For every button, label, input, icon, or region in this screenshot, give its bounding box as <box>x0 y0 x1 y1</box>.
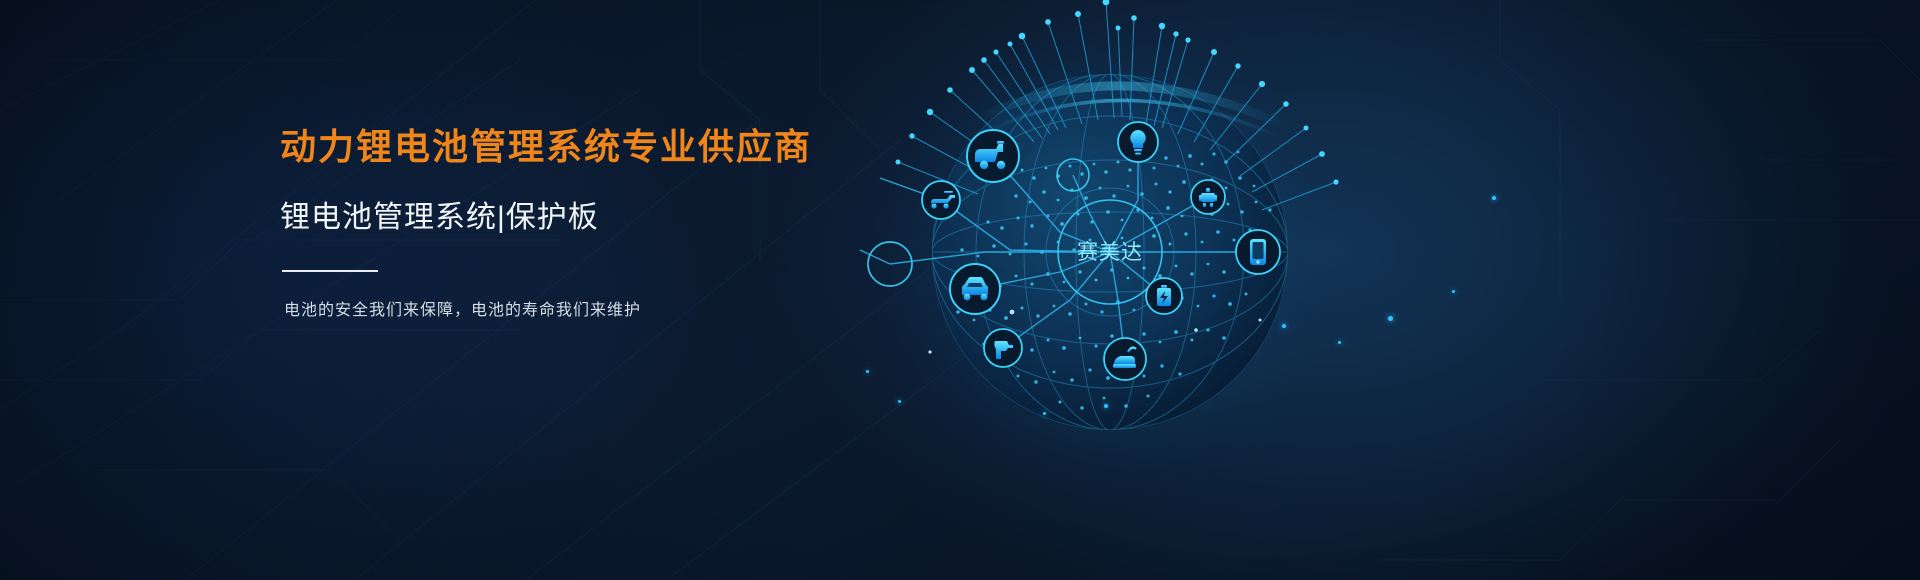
node-drone <box>922 181 960 219</box>
node-vacuum <box>1104 338 1146 380</box>
spark-dot <box>1492 196 1496 200</box>
spark-dot <box>1282 324 1286 328</box>
spark-dot <box>1388 316 1393 321</box>
spark-dot <box>1104 404 1108 408</box>
spark-dot <box>1043 412 1046 415</box>
node-robot <box>1191 180 1225 214</box>
spark-dot <box>1452 290 1455 293</box>
node-phone <box>1236 230 1280 274</box>
divider-rule <box>282 270 378 272</box>
spark-dot <box>1338 341 1341 344</box>
node-lightbulb <box>1118 122 1158 162</box>
hero-banner: 赛美达 <box>0 0 1920 580</box>
banner-subtitle: 锂电池管理系统|保护板 <box>280 200 900 236</box>
network-globe-graphic: 赛美达 <box>835 0 1475 580</box>
spark-dot <box>866 370 869 373</box>
node-battery <box>1146 278 1182 314</box>
node-drill <box>984 329 1022 367</box>
banner-headline: 动力锂电池管理系统专业供应商 <box>280 126 900 168</box>
banner-description: 电池的安全我们来保障，电池的寿命我们来维护 <box>284 298 900 324</box>
globe-center-label: 赛美达 <box>1077 241 1143 264</box>
node-car <box>950 264 1000 314</box>
spark-dot <box>898 400 901 403</box>
banner-copy: 动力锂电池管理系统专业供应商 锂电池管理系统|保护板 电池的安全我们来保障，电池… <box>280 126 900 324</box>
node-scooter <box>967 130 1019 182</box>
